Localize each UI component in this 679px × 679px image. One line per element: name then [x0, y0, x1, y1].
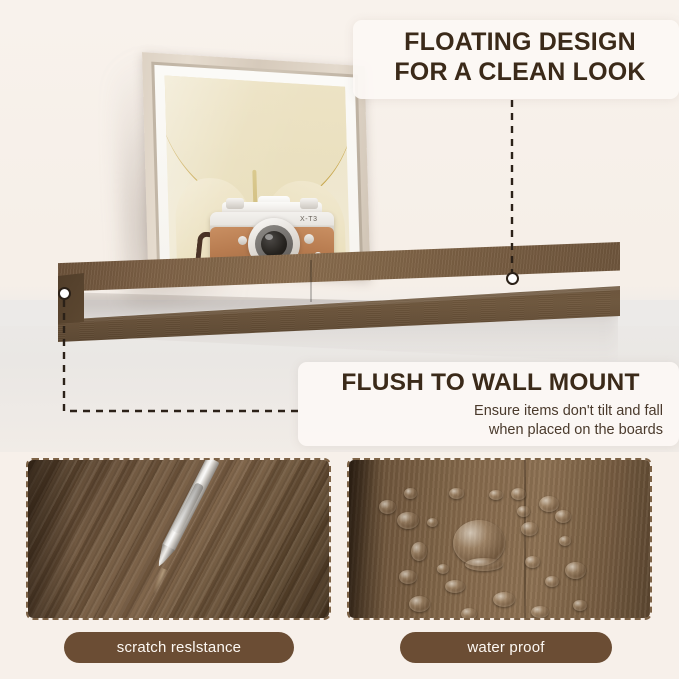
feature-panel-scratch-resistance — [26, 458, 331, 620]
water-droplet — [411, 542, 427, 561]
water-droplet — [573, 600, 587, 611]
water-droplet — [559, 536, 571, 546]
callout-flush-mount-sub2: when placed on the boards — [316, 421, 665, 440]
callout-marker-floating-design — [506, 272, 519, 285]
floating-shelf — [58, 242, 620, 342]
camera-dial-left — [226, 198, 244, 209]
water-droplet — [539, 496, 559, 512]
water-droplet — [427, 518, 438, 527]
water-droplet — [445, 580, 465, 593]
callout-flush-mount-sub1: Ensure items don't tilt and fall — [316, 402, 665, 421]
water-droplet — [545, 576, 559, 587]
wood-shadow-edge — [28, 460, 76, 618]
water-droplet — [397, 512, 419, 529]
water-droplet — [409, 596, 430, 612]
wood-shadow-edge-water — [349, 460, 385, 618]
scratch-resistance-photo — [28, 460, 329, 618]
camera-dial-right — [300, 198, 318, 209]
feature-panel-water-proof — [347, 458, 652, 620]
water-droplet — [517, 506, 530, 517]
water-droplet — [555, 510, 571, 523]
wood-plank-edge — [524, 460, 526, 618]
callout-marker-flush-mount — [58, 287, 71, 300]
callout-floating-design-line1: FLOATING DESIGN — [375, 28, 665, 58]
water-droplet — [404, 488, 417, 499]
callout-flush-mount: FLUSH TO WALL MOUNT Ensure items don't t… — [298, 362, 679, 446]
water-droplet — [461, 608, 477, 620]
feature-label-water-proof[interactable]: water proof — [400, 632, 612, 663]
water-droplet — [521, 522, 538, 536]
water-droplet — [565, 562, 586, 579]
water-droplet — [531, 606, 549, 618]
water-droplet — [489, 490, 503, 500]
camera-model-label: X-T3 — [300, 216, 318, 223]
camera-lens-glint — [265, 234, 273, 240]
hero-scene: X-T3 FLOATING DESIGN FOR A — [0, 0, 679, 452]
callout-floating-design: FLOATING DESIGN FOR A CLEAN LOOK — [353, 20, 679, 99]
water-droplet-streak — [465, 558, 503, 571]
water-droplet — [511, 488, 526, 500]
water-droplet — [437, 564, 449, 574]
feature-label-scratch-resistance[interactable]: scratch reslstance — [64, 632, 294, 663]
water-droplet — [493, 592, 515, 607]
water-proof-photo — [349, 460, 650, 618]
water-droplet — [399, 570, 417, 584]
callout-flush-mount-title: FLUSH TO WALL MOUNT — [316, 369, 665, 398]
water-droplet — [449, 488, 464, 499]
water-droplet — [379, 500, 396, 514]
water-droplet — [525, 556, 540, 568]
product-infographic: X-T3 FLOATING DESIGN FOR A — [0, 0, 679, 679]
callout-floating-design-line2: FOR A CLEAN LOOK — [375, 58, 665, 88]
